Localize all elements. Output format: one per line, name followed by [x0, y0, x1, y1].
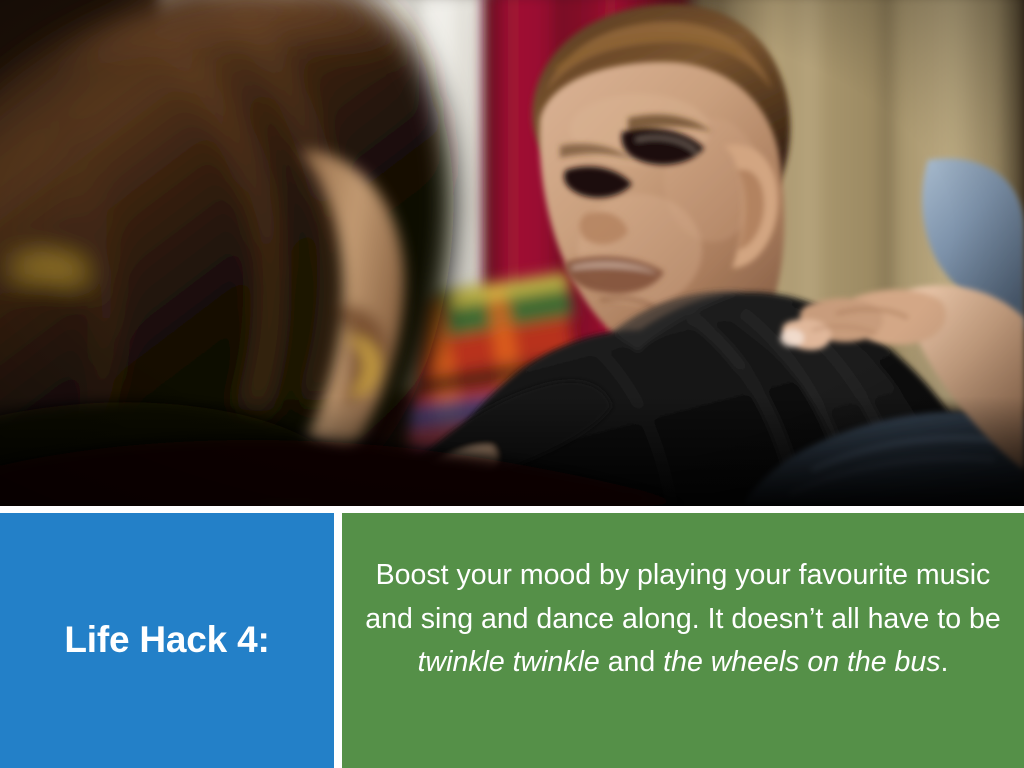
tip-segment-1: Boost your mood by playing your favourit… — [365, 559, 1000, 635]
tip-body-text: Boost your mood by playing your favourit… — [363, 554, 1003, 685]
life-hack-label-text: Life Hack 4: — [64, 620, 269, 661]
photo-illustration — [0, 0, 1024, 506]
tip-body-panel: Boost your mood by playing your favourit… — [342, 513, 1024, 768]
caption-area: Life Hack 4: Boost your mood by playing … — [0, 513, 1024, 768]
life-hack-label-panel: Life Hack 4: — [0, 513, 334, 768]
tip-segment-3: and — [600, 646, 663, 678]
tip-card: Life Hack 4: Boost your mood by playing … — [0, 0, 1024, 768]
tip-segment-2-italic: twinkle twinkle — [418, 646, 600, 678]
photo-baby-and-mother — [0, 0, 1024, 506]
tip-segment-4-italic: the wheels on the bus — [663, 646, 940, 678]
tip-segment-5: . — [940, 646, 948, 678]
